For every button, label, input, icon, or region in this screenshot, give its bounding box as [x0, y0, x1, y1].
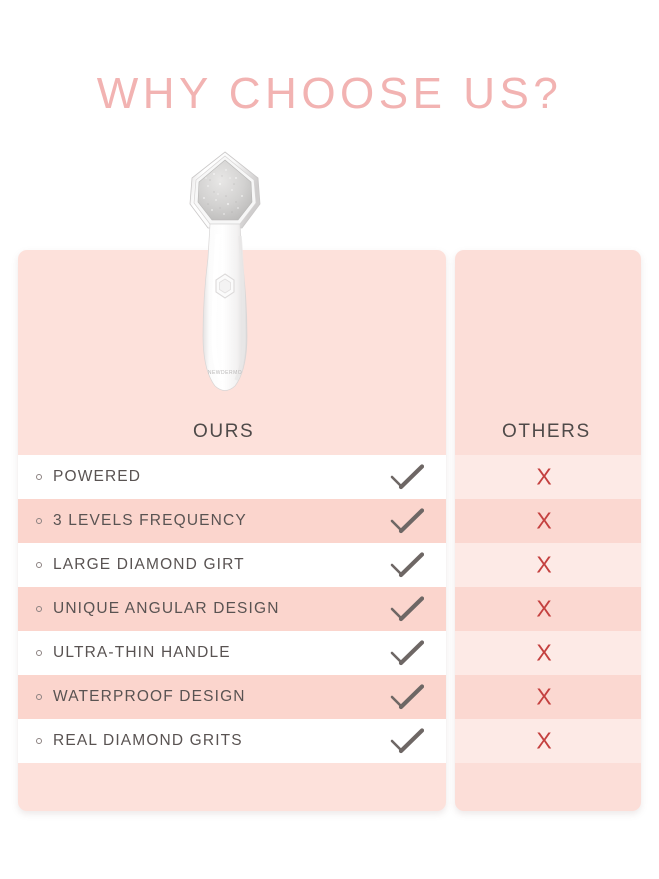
feature-row: POWEREDX [0, 455, 659, 499]
ours-check-cell [390, 552, 424, 578]
ours-check-cell [390, 508, 424, 534]
others-x-cell: X [519, 642, 569, 665]
bullet-circle-icon [36, 518, 42, 524]
others-x-cell: X [519, 510, 569, 533]
feature-row: WATERPROOF DESIGNX [0, 675, 659, 719]
checkmark-icon [390, 464, 424, 490]
checkmark-icon [390, 640, 424, 666]
feature-row: REAL DIAMOND GRITSX [0, 719, 659, 763]
feature-row: 3 LEVELS FREQUENCYX [0, 499, 659, 543]
bullet-circle-icon [36, 562, 42, 568]
ours-check-cell [390, 684, 424, 710]
feature-row: ULTRA-THIN HANDLEX [0, 631, 659, 675]
feature-label: UNIQUE ANGULAR DESIGN [53, 600, 280, 618]
others-x-cell: X [519, 686, 569, 709]
bullet-circle-icon [36, 694, 42, 700]
others-x-cell: X [519, 730, 569, 753]
ours-check-cell [390, 640, 424, 666]
feature-label: LARGE DIAMOND GIRT [53, 556, 245, 574]
bullet-circle-icon [36, 474, 42, 480]
bullet-circle-icon [36, 650, 42, 656]
others-x-cell: X [519, 466, 569, 489]
feature-label: 3 LEVELS FREQUENCY [53, 512, 247, 530]
feature-row: UNIQUE ANGULAR DESIGNX [0, 587, 659, 631]
checkmark-icon [390, 596, 424, 622]
feature-row: LARGE DIAMOND GIRTX [0, 543, 659, 587]
others-x-cell: X [519, 554, 569, 577]
comparison-infographic: WHY CHOOSE US? [0, 0, 659, 879]
ours-check-cell [390, 596, 424, 622]
checkmark-icon [390, 684, 424, 710]
bullet-circle-icon [36, 738, 42, 744]
others-x-cell: X [519, 598, 569, 621]
checkmark-icon [390, 508, 424, 534]
checkmark-icon [390, 728, 424, 754]
bullet-circle-icon [36, 606, 42, 612]
feature-label: ULTRA-THIN HANDLE [53, 644, 231, 662]
feature-label: WATERPROOF DESIGN [53, 688, 246, 706]
checkmark-icon [390, 552, 424, 578]
ours-check-cell [390, 464, 424, 490]
feature-label: POWERED [53, 468, 141, 486]
feature-label: REAL DIAMOND GRITS [53, 732, 243, 750]
ours-check-cell [390, 728, 424, 754]
column-header-others: OTHERS [502, 421, 591, 443]
column-header-ours: OURS [193, 421, 254, 443]
